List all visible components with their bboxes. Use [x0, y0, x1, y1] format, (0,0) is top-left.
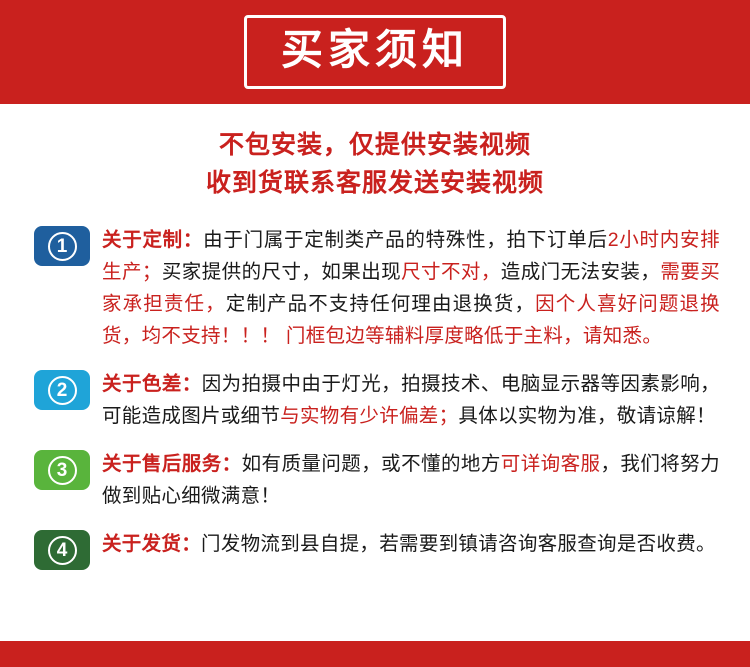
item-body-4: 关于发货：门发物流到县自提，若需要到镇请咨询客服查询是否收费。 — [102, 528, 720, 560]
subtitle-line-2: 收到货联系客服发送安装视频 — [0, 164, 750, 202]
item-seg-4-0: 门发物流到县自提，若需要到镇请咨询客服查询是否收费。 — [201, 533, 716, 555]
page-title: 买家须知 — [281, 24, 469, 76]
item-seg-1-2: 买家提供的尺寸，如果出现 — [162, 261, 401, 283]
item-lead-1: 关于定制： — [102, 229, 203, 251]
list-item: 3 关于售后服务：如有质量问题，或不懂的地方可详询客服，我们将努力做到贴心细微满… — [34, 448, 720, 512]
item-seg-2-1: 与实物有少许偏差； — [280, 405, 458, 427]
item-number-2: 2 — [48, 376, 77, 405]
item-seg-3-1: 可详询客服 — [501, 453, 601, 475]
item-lead-4: 关于发货： — [102, 533, 201, 555]
item-body-3: 关于售后服务：如有质量问题，或不懂的地方可详询客服，我们将努力做到贴心细微满意！ — [102, 448, 720, 512]
item-seg-3-0: 如有质量问题，或不懂的地方 — [242, 453, 501, 475]
notice-list: 1 关于定制：由于门属于定制类产品的特殊性，拍下订单后2小时内安排生产；买家提供… — [0, 224, 750, 570]
item-badge-2: 2 — [34, 370, 90, 410]
item-lead-3: 关于售后服务： — [102, 453, 242, 475]
header-banner: 买家须知 — [0, 0, 750, 104]
item-badge-1: 1 — [34, 226, 90, 266]
list-item: 4 关于发货：门发物流到县自提，若需要到镇请咨询客服查询是否收费。 — [34, 528, 720, 570]
item-badge-3: 3 — [34, 450, 90, 490]
item-seg-1-0: 由于门属于定制类产品的特殊性，拍下订单后 — [203, 229, 608, 251]
item-lead-2: 关于色差： — [102, 373, 202, 395]
list-item: 1 关于定制：由于门属于定制类产品的特殊性，拍下订单后2小时内安排生产；买家提供… — [34, 224, 720, 352]
subtitle-block: 不包安装，仅提供安装视频 收到货联系客服发送安装视频 — [0, 126, 750, 202]
subtitle-line-1: 不包安装，仅提供安装视频 — [0, 126, 750, 164]
item-body-2: 关于色差：因为拍摄中由于灯光，拍摄技术、电脑显示器等因素影响，可能造成图片或细节… — [102, 368, 720, 432]
item-number-3: 3 — [48, 456, 77, 485]
item-body-1: 关于定制：由于门属于定制类产品的特殊性，拍下订单后2小时内安排生产；买家提供的尺… — [102, 224, 720, 352]
footer-bar — [0, 641, 750, 667]
item-seg-1-6: 定制产品不支持任何理由退换货， — [226, 293, 535, 315]
item-number-1: 1 — [48, 232, 77, 261]
item-seg-2-2: 具体以实物为准，敬请谅解！ — [458, 405, 715, 427]
item-seg-1-3: 尺寸不对， — [401, 261, 501, 283]
item-number-4: 4 — [48, 536, 77, 565]
item-badge-4: 4 — [34, 530, 90, 570]
item-seg-1-8: 门框包边等辅料厚度略低于主料， — [280, 325, 583, 347]
item-seg-1-4: 造成门无法安装， — [501, 261, 661, 283]
list-item: 2 关于色差：因为拍摄中由于灯光，拍摄技术、电脑显示器等因素影响，可能造成图片或… — [34, 368, 720, 432]
header-banner-frame: 买家须知 — [244, 15, 506, 89]
item-seg-1-9: 请知悉。 — [583, 325, 662, 347]
buyer-notice-page: 买家须知 不包安装，仅提供安装视频 收到货联系客服发送安装视频 1 关于定制：由… — [0, 0, 750, 667]
